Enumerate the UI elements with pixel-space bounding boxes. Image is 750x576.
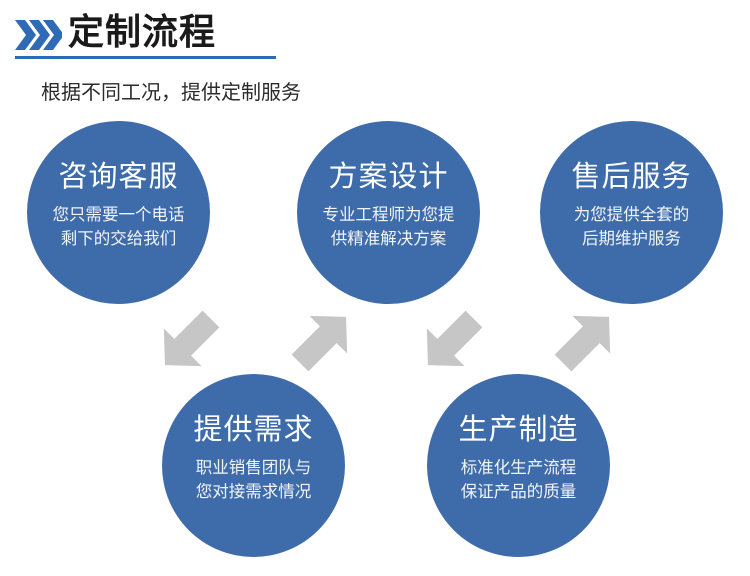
flow-node-requirement: 提供需求 职业销售团队与 您对接需求情况 — [162, 374, 345, 557]
flow-node-description-line: 后期维护服务 — [540, 227, 723, 251]
arrow-up-right-icon — [548, 304, 622, 378]
arrow-down-right-icon — [152, 304, 226, 378]
title-underline — [15, 56, 276, 59]
flow-node-description: 您只需要一个电话 剩下的交给我们 — [27, 203, 210, 251]
flow-node-description-line: 为您提供全套的 — [540, 203, 723, 227]
flow-node-description-line: 职业销售团队与 — [162, 456, 345, 480]
page-header: 定制流程 根据不同工况，提供定制服务 — [0, 0, 750, 112]
flow-node-description: 专业工程师为您提 供精准解决方案 — [297, 203, 480, 251]
flow-node-description: 职业销售团队与 您对接需求情况 — [162, 456, 345, 504]
flow-node-description: 标准化生产流程 保证产品的质量 — [427, 456, 610, 504]
flow-node-aftersales: 售后服务 为您提供全套的 后期维护服务 — [540, 121, 723, 304]
flow-node-production: 生产制造 标准化生产流程 保证产品的质量 — [427, 374, 610, 557]
flow-node-description-line: 专业工程师为您提 — [297, 203, 480, 227]
page-subtitle: 根据不同工况，提供定制服务 — [41, 79, 301, 107]
flow-node-design: 方案设计 专业工程师为您提 供精准解决方案 — [297, 121, 480, 304]
flow-node-title: 提供需求 — [162, 412, 345, 448]
page-title: 定制流程 — [68, 10, 216, 54]
flow-node-description-line: 保证产品的质量 — [427, 480, 610, 504]
flow-node-title: 生产制造 — [427, 412, 610, 448]
flow-node-title: 咨询客服 — [27, 159, 210, 195]
flow-node-title: 方案设计 — [297, 159, 480, 195]
arrow-up-right-icon — [285, 304, 359, 378]
flow-node-description-line: 标准化生产流程 — [427, 456, 610, 480]
flow-node-description-line: 剩下的交给我们 — [27, 227, 210, 251]
arrow-down-right-icon — [415, 304, 489, 378]
flow-node-description-line: 您对接需求情况 — [162, 480, 345, 504]
flow-node-description-line: 供精准解决方案 — [297, 227, 480, 251]
flow-node-description: 为您提供全套的 后期维护服务 — [540, 203, 723, 251]
flow-node-description-line: 您只需要一个电话 — [27, 203, 210, 227]
flow-node-title: 售后服务 — [540, 159, 723, 195]
triple-chevron-right-icon — [14, 18, 62, 52]
flow-node-consult: 咨询客服 您只需要一个电话 剩下的交给我们 — [27, 121, 210, 304]
